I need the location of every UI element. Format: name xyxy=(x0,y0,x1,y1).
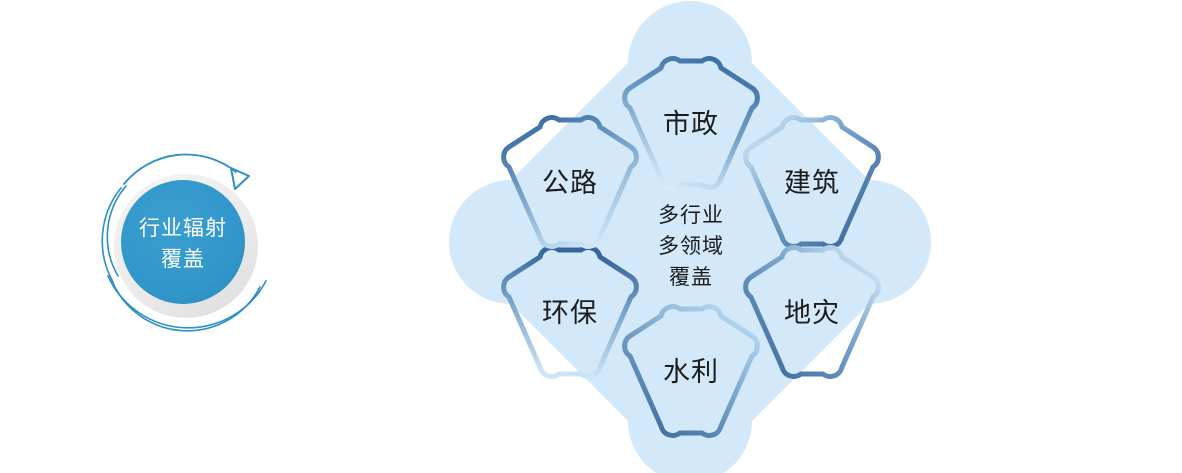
diagram-canvas: 行业辐射 覆盖 市政 建筑 地灾 xyxy=(0,0,1182,473)
hex-shizheng-label: 市政 xyxy=(663,109,719,139)
hex-huanbao-label: 环保 xyxy=(542,298,598,328)
badge-circle xyxy=(121,180,245,304)
badge-title-line1: 行业辐射 xyxy=(139,217,227,240)
hex-jianzhu-label: 建筑 xyxy=(784,168,840,198)
center-line-1: 多行业 xyxy=(658,204,724,227)
hex-dizai-label: 地灾 xyxy=(784,298,840,328)
center-line-2: 多领域 xyxy=(658,235,724,258)
hex-gonglu-label: 公路 xyxy=(542,168,598,198)
hex-shuili-label: 水利 xyxy=(663,357,719,387)
badge-title-line2: 覆盖 xyxy=(161,248,205,271)
multi-industry-hex-cluster: 市政 建筑 地灾 水利 环保 xyxy=(449,1,931,473)
diagram-svg: 行业辐射 覆盖 市政 建筑 地灾 xyxy=(0,0,1182,473)
center-line-3: 覆盖 xyxy=(669,266,713,289)
industry-coverage-badge[interactable]: 行业辐射 覆盖 xyxy=(102,154,266,330)
